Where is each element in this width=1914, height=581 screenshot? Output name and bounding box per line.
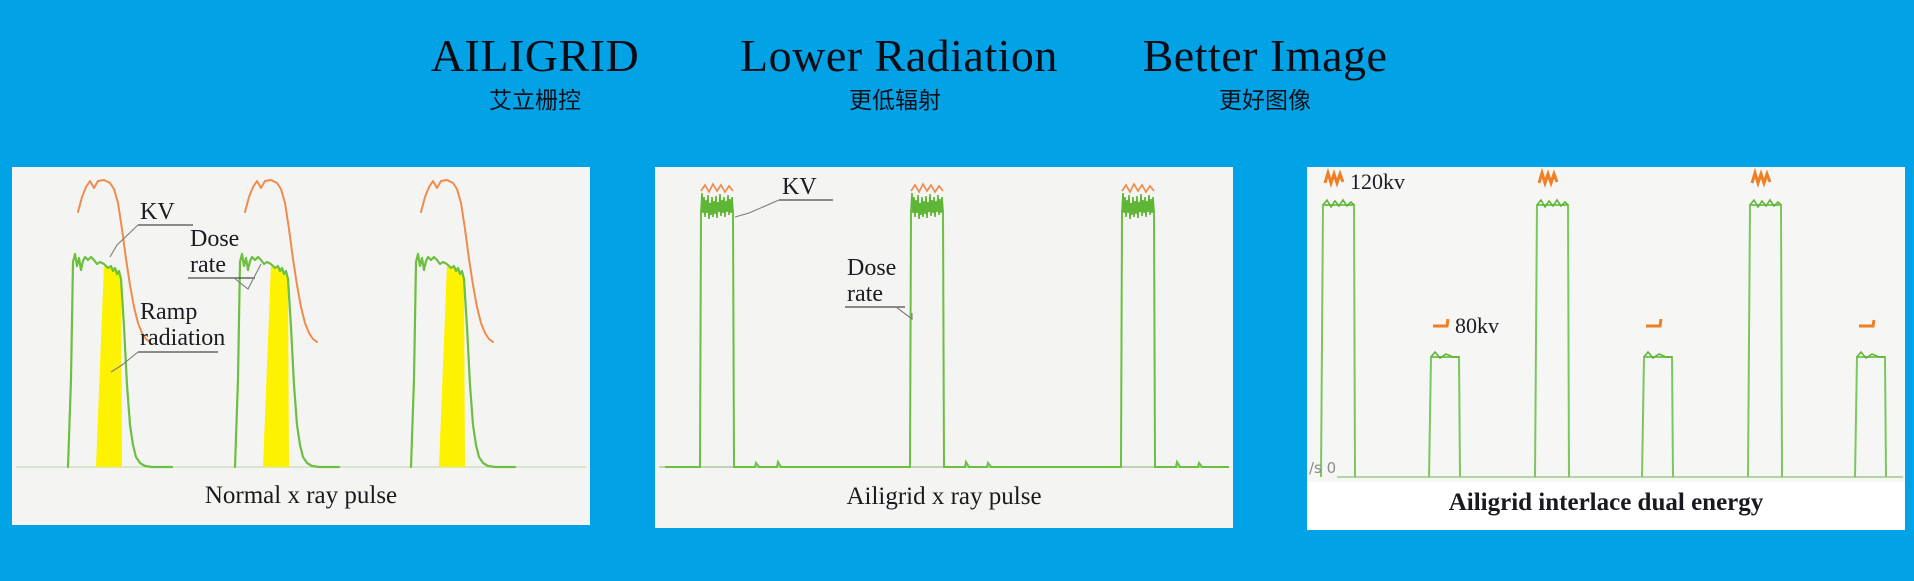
- panel-ailigrid-x-ray-pulse: KV Dose rate Ailigrid x ray pulse: [655, 167, 1233, 528]
- dose-pulse-80kv-1: [1429, 357, 1460, 477]
- dose-rate-noise-top: [911, 193, 943, 219]
- axis-tick-label: /s 0: [1309, 459, 1336, 477]
- ramp-radiation-fill: [439, 264, 465, 467]
- dose-pulse-80kv-2: [1642, 357, 1673, 477]
- chart-ailigrid-interlace-dual-energy: 120kv 80kv /s 0: [1307, 167, 1905, 530]
- header-subtitle: 更好图像: [1120, 86, 1410, 116]
- kv-marker-120kv-2: [1539, 173, 1557, 183]
- annotation-ramp-line1: Ramp: [140, 299, 197, 325]
- pulse-group-1: [665, 184, 865, 467]
- header-title: Better Image: [1120, 30, 1410, 82]
- kv-marker-120kv-1: [1325, 173, 1343, 183]
- annotation-dose-rate-line1: Dose: [847, 255, 896, 281]
- kv-trace: [701, 184, 733, 192]
- dose-pulse-120kv-3: [1748, 205, 1782, 477]
- annotation-dose-rate-line2: rate: [190, 252, 226, 278]
- annotation-kv-label: KV: [782, 174, 817, 200]
- pulse-group-2: [235, 180, 339, 467]
- panel-caption: Ailigrid x ray pulse: [655, 483, 1233, 511]
- leader-line: [735, 200, 779, 217]
- dose-rate-noise-top: [701, 193, 733, 219]
- kv-trace: [1122, 184, 1154, 192]
- dose-pulse-120kv-2: [1535, 205, 1569, 477]
- annotation-dose-rate: Dose rate: [845, 255, 912, 319]
- kv-trace: [911, 184, 943, 192]
- legend-label-80kv: 80kv: [1455, 313, 1499, 338]
- header-subtitle: 艾立栅控: [400, 86, 670, 116]
- panel-caption: Ailigrid interlace dual energy: [1307, 489, 1905, 517]
- annotation-kv-label: KV: [140, 199, 175, 225]
- panel-ailigrid-interlace-dual-energy: 120kv 80kv /s 0 Ailigrid interlace dual …: [1307, 167, 1905, 530]
- annotation-dose-rate-line1: Dose: [190, 226, 239, 252]
- leader-line: [896, 307, 912, 319]
- legend-label-120kv: 120kv: [1350, 169, 1405, 194]
- ramp-radiation-fill: [263, 264, 289, 467]
- panel-caption: Normal x ray pulse: [12, 482, 590, 510]
- kv-marker-80kv-3: [1859, 320, 1874, 326]
- header-banner: AILIGRID 艾立栅控 Lower Radiation 更低辐射 Bette…: [0, 0, 1914, 162]
- annotation-kv: KV: [735, 174, 833, 217]
- panel-normal-x-ray-pulse: KV Dose rate Ramp radiation Normal x ray…: [12, 167, 590, 525]
- header-item-ailigrid: AILIGRID 艾立栅控: [400, 30, 670, 116]
- dose-pulse-120kv-1: [1321, 205, 1355, 477]
- dose-rate-pulse: [665, 211, 865, 467]
- pulse-group-3: [411, 180, 515, 467]
- header-title: AILIGRID: [400, 30, 670, 82]
- annotation-ramp-line2: radiation: [140, 325, 225, 351]
- kv-marker-80kv-2: [1646, 319, 1661, 326]
- annotation-dose-rate: Dose rate: [188, 226, 261, 289]
- header-title: Lower Radiation: [740, 30, 1050, 82]
- chart-ailigrid-x-ray-pulse: KV Dose rate: [655, 167, 1233, 528]
- header-item-better-image: Better Image 更好图像: [1120, 30, 1410, 116]
- annotation-dose-rate-line2: rate: [847, 281, 883, 307]
- chart-normal-x-ray-pulse: KV Dose rate Ramp radiation: [12, 167, 590, 525]
- kv-marker-80kv-1: [1433, 319, 1448, 326]
- annotation-ramp-radiation: Ramp radiation: [111, 299, 225, 372]
- dose-rate-pulse: [1075, 211, 1229, 467]
- header-item-lower-radiation: Lower Radiation 更低辐射: [740, 30, 1050, 116]
- dose-rate-noise-top: [1122, 193, 1154, 219]
- dose-pulse-80kv-3: [1855, 357, 1886, 477]
- pulse-group-2: [865, 184, 1075, 467]
- pulse-group-3: [1075, 184, 1229, 467]
- ramp-radiation-fill: [96, 264, 122, 467]
- dose-rate-pulse: [865, 211, 1075, 467]
- kv-marker-120kv-3: [1752, 173, 1770, 183]
- header-subtitle: 更低辐射: [740, 86, 1050, 116]
